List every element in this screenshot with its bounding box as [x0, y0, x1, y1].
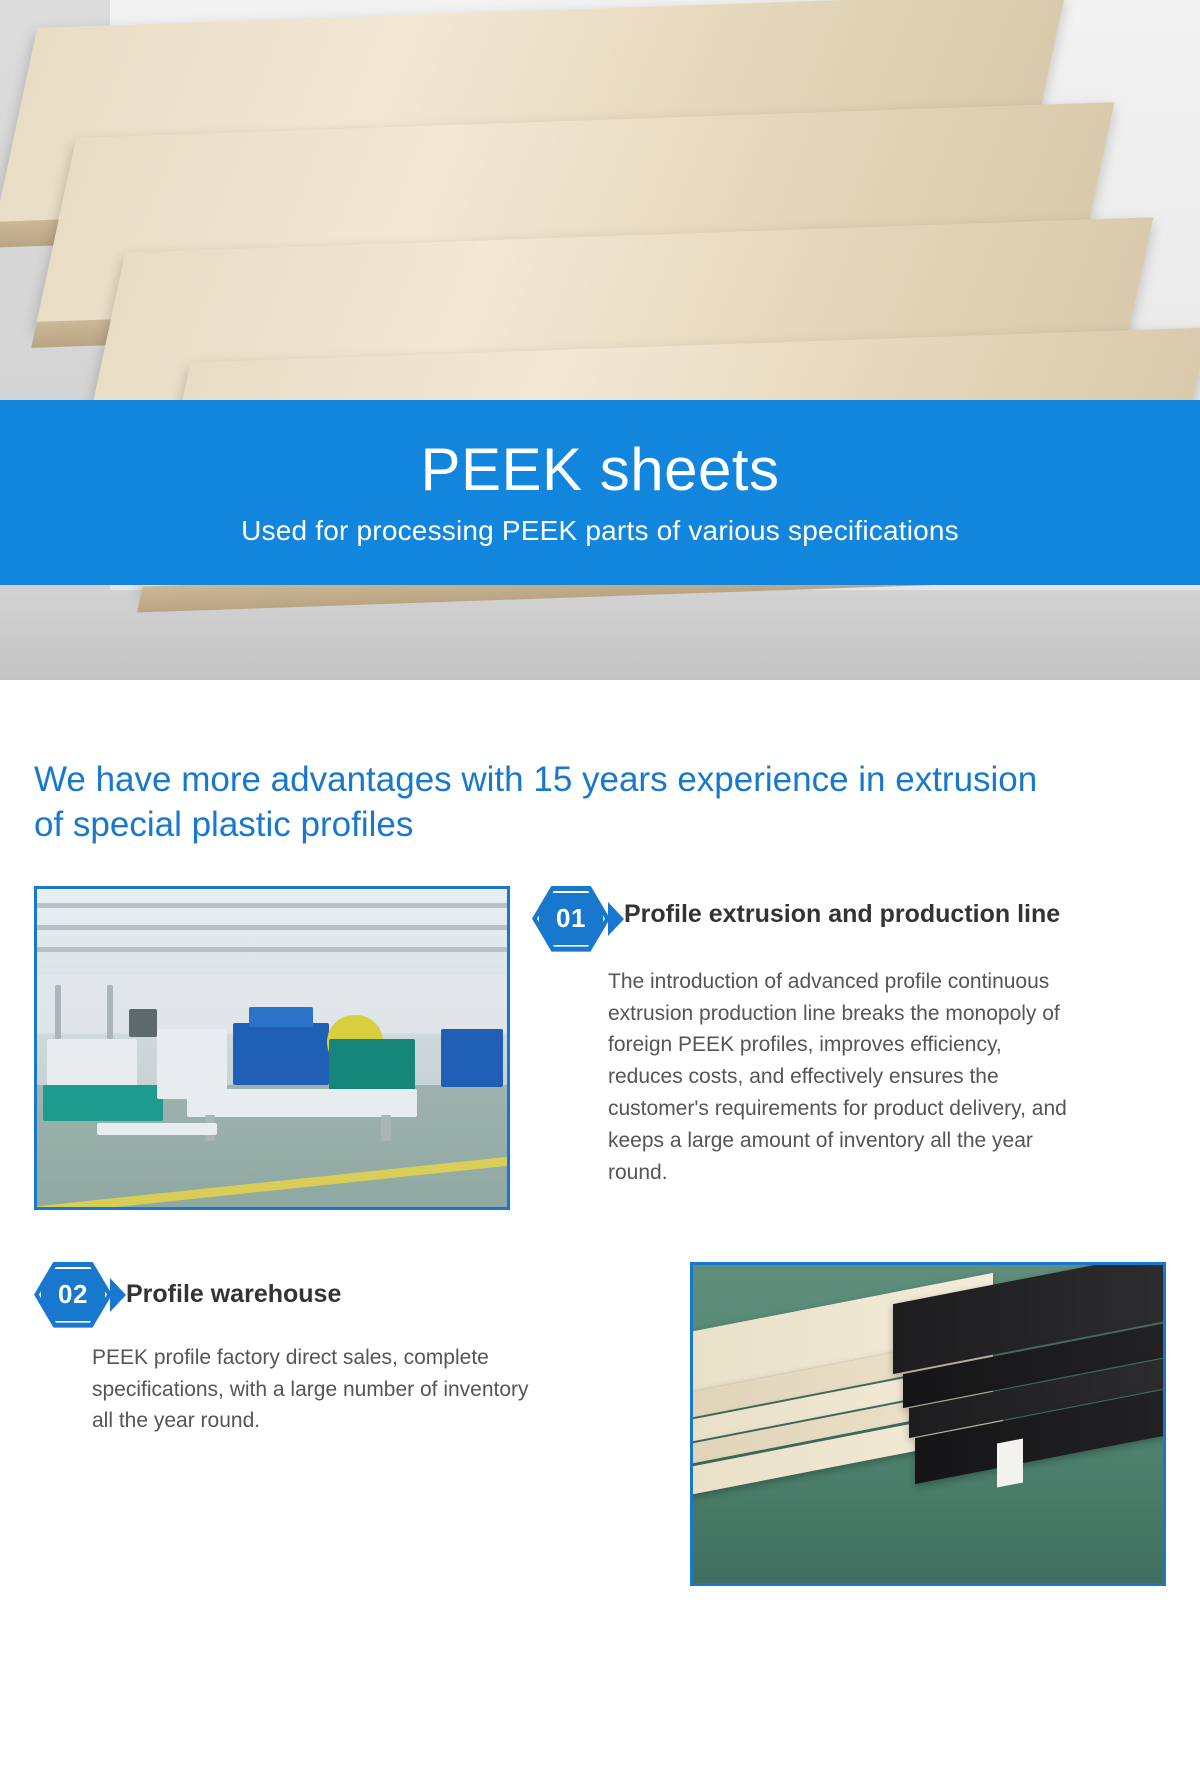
- feature-02-header: 02 Profile warehouse: [34, 1262, 668, 1328]
- hex-pointer-icon: [110, 1278, 126, 1312]
- feature-02-number: 02: [34, 1262, 112, 1328]
- ceiling-beam-2: [37, 925, 507, 930]
- machine-teal-base-1: [43, 1085, 163, 1121]
- board-tag-label: [997, 1438, 1023, 1487]
- feature-01-photo: [34, 886, 510, 1210]
- feature-02-body: PEEK profile factory direct sales, compl…: [92, 1342, 532, 1438]
- factory-ceiling: [37, 889, 507, 975]
- ceiling-beam-3: [37, 947, 507, 952]
- feature-item-02: 02 Profile warehouse PEEK profile factor…: [34, 1262, 1166, 1586]
- machine-blue-top-1: [249, 1007, 313, 1027]
- feature-01-header: 01 Profile extrusion and production line: [532, 886, 1166, 952]
- hero-caption-band: PEEK sheets Used for processing PEEK par…: [0, 400, 1200, 585]
- conveyor-leg-2: [381, 1115, 391, 1141]
- ceiling-beam-1: [37, 903, 507, 908]
- hero-banner: PEEK sheets Used for processing PEEK par…: [0, 0, 1200, 680]
- machine-blue-unit-1: [233, 1023, 329, 1085]
- feature-01-number: 01: [532, 886, 610, 952]
- feature-02-title: Profile warehouse: [126, 1262, 341, 1311]
- warehouse-boards-scene: [693, 1265, 1163, 1583]
- hex-badge-02-icon: 02: [34, 1262, 112, 1328]
- machine-conveyor: [187, 1089, 417, 1117]
- hero-title: PEEK sheets: [420, 438, 779, 501]
- hex-badge-01-icon: 01: [532, 886, 610, 952]
- section-headline: We have more advantages with 15 years ex…: [34, 758, 1074, 848]
- machine-teal-unit-2: [329, 1039, 415, 1095]
- machine-motor-1: [129, 1009, 157, 1037]
- feature-02-photo: [690, 1262, 1166, 1586]
- features-section: 01 Profile extrusion and production line…: [0, 886, 1200, 1586]
- feature-01-body: The introduction of advanced profile con…: [608, 966, 1078, 1189]
- feature-01-title: Profile extrusion and production line: [624, 886, 1060, 931]
- hex-pointer-icon: [608, 902, 624, 936]
- machine-blue-unit-2: [441, 1029, 503, 1087]
- factory-scene: [37, 889, 507, 1207]
- feature-02-text: 02 Profile warehouse PEEK profile factor…: [34, 1262, 668, 1438]
- machine-rail: [97, 1123, 217, 1135]
- feature-01-text: 01 Profile extrusion and production line…: [532, 886, 1166, 1189]
- hero-subtitle: Used for processing PEEK parts of variou…: [241, 515, 959, 547]
- feature-item-01: 01 Profile extrusion and production line…: [34, 886, 1166, 1210]
